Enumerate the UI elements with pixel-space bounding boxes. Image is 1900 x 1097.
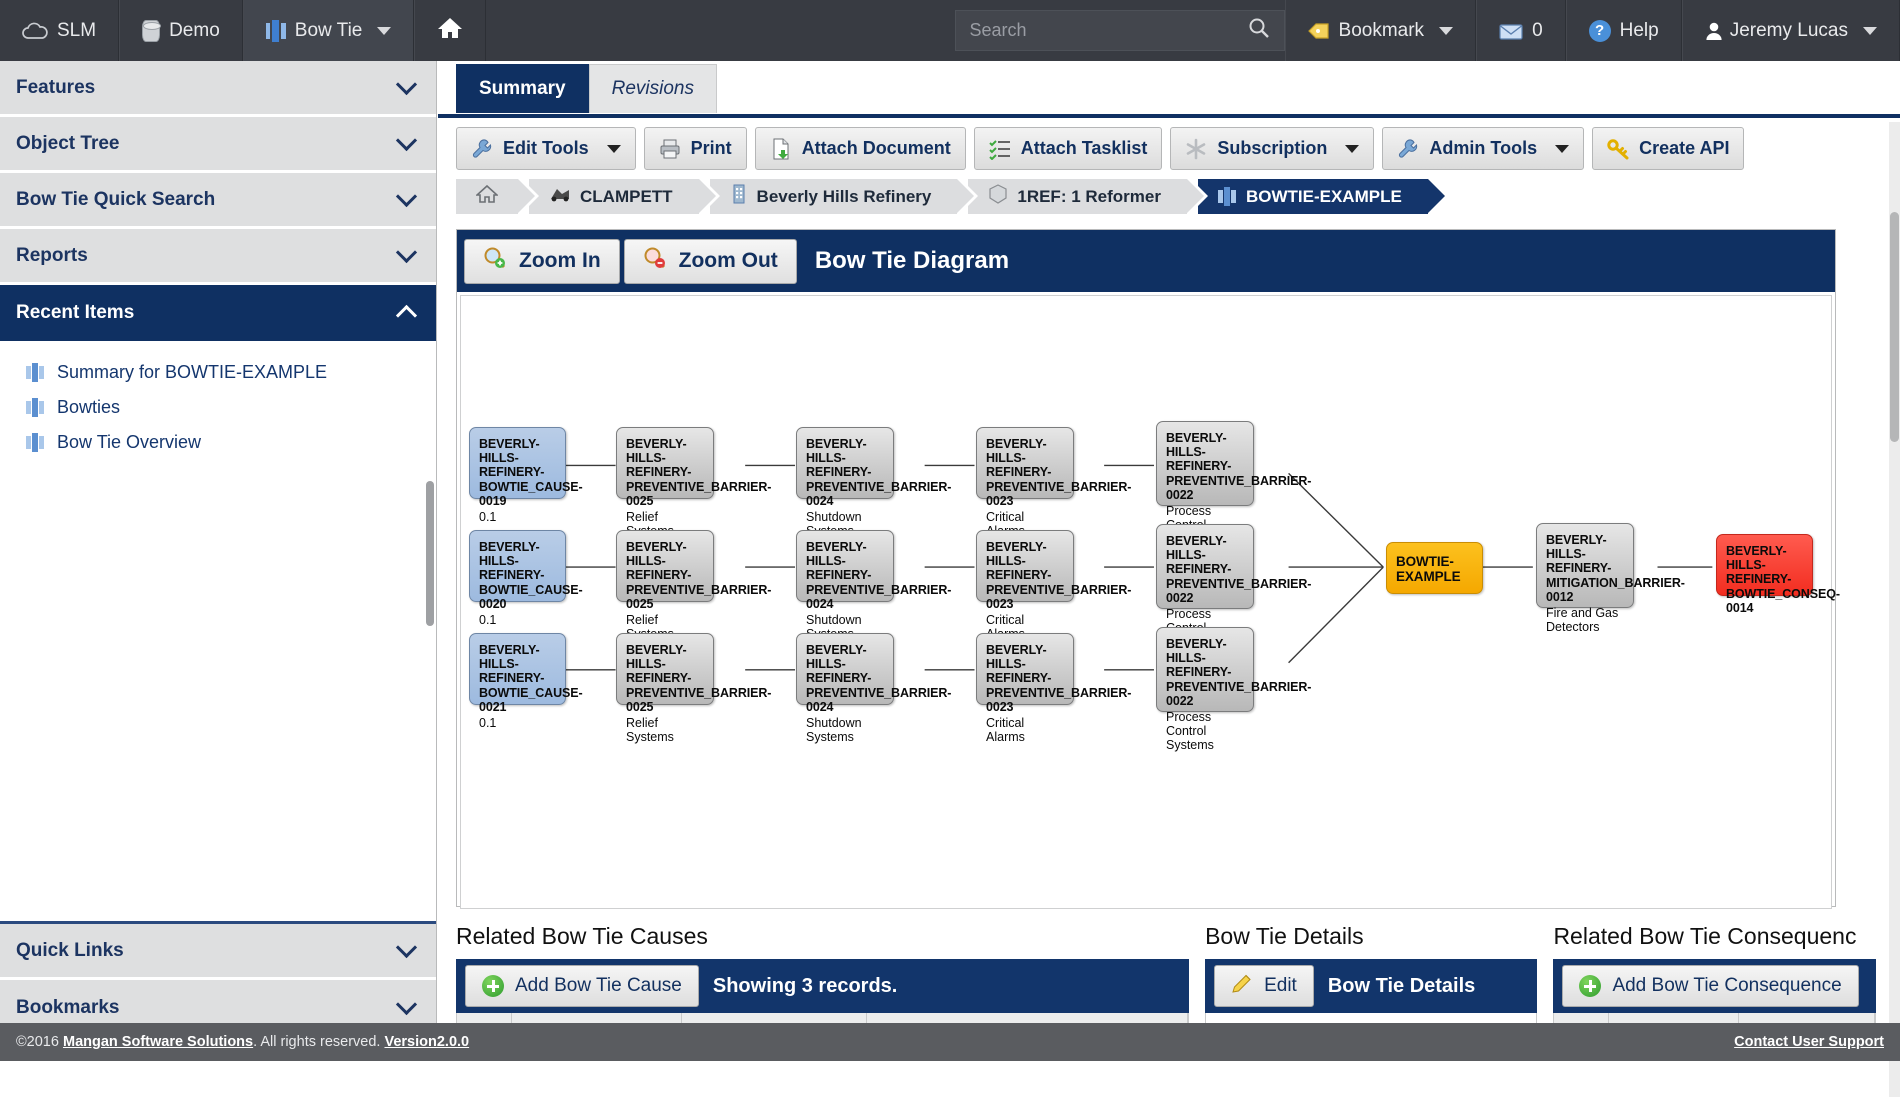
bowtie-icon: [1218, 187, 1237, 206]
node-id: BEVERLY-HILLS-REFINERY-PREVENTIVE_BARRIE…: [986, 643, 1064, 714]
chevron-down-icon[interactable]: [396, 129, 417, 150]
footer-copyright: ©2016 Mangan Software Solutions. All rig…: [16, 1034, 469, 1050]
node-subtitle: Process Control Systems: [1166, 710, 1244, 753]
node-id: BEVERLY-HILLS-REFINERY-PREVENTIVE_BARRIE…: [1166, 637, 1244, 708]
breadcrumb-label: CLAMPETT: [580, 187, 673, 207]
tab-revisions[interactable]: Revisions: [589, 64, 717, 113]
wrench-icon: [471, 138, 493, 160]
chevron-down-icon[interactable]: [396, 241, 417, 262]
bowtie-icon: [266, 20, 286, 42]
database-icon: [142, 20, 160, 42]
chevron-down-icon[interactable]: [1555, 145, 1569, 153]
diagram-node-barrier[interactable]: BEVERLY-HILLS-REFINERY-PREVENTIVE_BARRIE…: [796, 530, 894, 602]
node-id: BEVERLY-HILLS-REFINERY-BOWTIE_CAUSE-0021: [479, 643, 556, 714]
panel-title: Bow Tie Details: [1205, 923, 1537, 950]
sidebar-section-reports[interactable]: Reports: [0, 229, 436, 285]
bowtie-icon: [26, 363, 45, 382]
node-id: BEVERLY-HILLS-REFINERY-PREVENTIVE_BARRIE…: [986, 437, 1064, 508]
chevron-down-icon[interactable]: [607, 145, 621, 153]
node-subtitle: 0.1: [479, 510, 556, 524]
chevron-down-icon[interactable]: [396, 185, 417, 206]
oil-pump-icon: [549, 185, 571, 208]
sidebar-section-label: Recent Items: [16, 302, 134, 324]
mail-icon: [1499, 22, 1523, 40]
button-label: Zoom In: [519, 249, 601, 273]
node-id: BEVERLY-HILLS-REFINERY-PREVENTIVE_BARRIE…: [626, 437, 704, 508]
footer-company-link[interactable]: Mangan Software Solutions: [63, 1034, 253, 1050]
module-label: Bow Tie: [295, 20, 363, 42]
home-button[interactable]: [414, 0, 486, 61]
button-label: Admin Tools: [1429, 138, 1537, 159]
tab-bar: Summary Revisions: [456, 64, 717, 113]
panel-toolbar: Edit Bow Tie Details: [1205, 959, 1537, 1013]
diagram-node-barrier[interactable]: BEVERLY-HILLS-REFINERY-PREVENTIVE_BARRIE…: [616, 530, 714, 602]
panel-heading: Bow Tie Details: [1328, 975, 1475, 998]
node-id: BEVERLY-HILLS-REFINERY-PREVENTIVE_BARRIE…: [806, 540, 884, 611]
button-label: Attach Tasklist: [1021, 138, 1148, 159]
chevron-down-icon[interactable]: [377, 27, 391, 35]
wrench-icon: [1397, 138, 1419, 160]
search-box[interactable]: [955, 10, 1285, 51]
scrollbar-thumb[interactable]: [1890, 212, 1899, 442]
plus-circle-icon: [1579, 975, 1601, 997]
bottom-panels: Related Bow Tie Causes Add Bow Tie Cause…: [456, 923, 1876, 1036]
bowtie-icon: [26, 433, 45, 452]
recent-items-list: Summary for BOWTIE-EXAMPLE Bowties Bow T…: [0, 341, 436, 966]
button-label: Add Bow Tie Consequence: [1612, 975, 1841, 997]
search-input[interactable]: [956, 20, 1248, 41]
diagram-node-barrier[interactable]: BEVERLY-HILLS-REFINERY-PREVENTIVE_BARRIE…: [796, 427, 894, 499]
footer-version-link[interactable]: Version2.0.0: [384, 1034, 469, 1050]
search-icon[interactable]: [1248, 17, 1284, 44]
button-label: Subscription: [1217, 138, 1327, 159]
help-label: Help: [1620, 20, 1659, 42]
panel-title: Related Bow Tie Causes: [456, 923, 1189, 950]
panel-toolbar: Add Bow Tie Consequence: [1553, 959, 1876, 1013]
bowtie-icon: [26, 398, 45, 417]
related-bow-tie-consequences-panel: Related Bow Tie Consequenc Add Bow Tie C…: [1553, 923, 1876, 1036]
diagram-node-cause[interactable]: BEVERLY-HILLS-REFINERY-BOWTIE_CAUSE-0019…: [469, 427, 566, 499]
breadcrumb-label: Beverly Hills Refinery: [757, 187, 932, 207]
edit-tools-button[interactable]: Edit Tools: [456, 127, 636, 170]
breadcrumb-item-home[interactable]: [456, 179, 518, 214]
button-label: Attach Document: [802, 138, 951, 159]
bookmark-menu[interactable]: Bookmark: [1285, 0, 1477, 61]
sidebar-section-bow-tie-quick-search[interactable]: Bow Tie Quick Search: [0, 173, 436, 229]
breadcrumb: CLAMPETT Beverly Hills Refinery 1REF: 1 …: [456, 179, 1439, 214]
create-api-button[interactable]: Create API: [1592, 127, 1744, 170]
breadcrumb-label: 1REF: 1 Reformer: [1017, 187, 1161, 207]
module-selector[interactable]: Bow Tie: [243, 0, 415, 61]
bow-tie-details-panel: Bow Tie Details Edit Bow Tie Details: [1205, 923, 1537, 1036]
pencil-icon: [1231, 972, 1253, 1000]
tab-label: Summary: [479, 78, 566, 99]
sidebar-scrollbar[interactable]: [426, 481, 434, 626]
home-icon: [476, 184, 498, 209]
button-label: Print: [691, 138, 732, 159]
diagram-node-cause[interactable]: BEVERLY-HILLS-REFINERY-BOWTIE_CAUSE-0021…: [469, 633, 566, 705]
node-subtitle: Relief Systems: [626, 716, 704, 744]
node-id: BEVERLY-HILLS-REFINERY-MITIGATION_BARRIE…: [1546, 533, 1624, 604]
node-id: BOWTIE-EXAMPLE: [1396, 555, 1473, 583]
zoom-in-button[interactable]: Zoom In: [464, 239, 620, 284]
node-id: BEVERLY-HILLS-REFINERY-PREVENTIVE_BARRIE…: [1166, 534, 1244, 605]
zoom-out-icon: [643, 246, 667, 276]
diagram-node-consequence[interactable]: BEVERLY-HILLS-REFINERY-BOWTIE_CONSEQ-001…: [1716, 534, 1813, 596]
node-subtitle: Critical Alarms: [986, 716, 1064, 744]
diagram-node-barrier[interactable]: BEVERLY-HILLS-REFINERY-PREVENTIVE_BARRIE…: [976, 427, 1074, 499]
node-subtitle: 0.1: [479, 716, 556, 730]
breadcrumb-item-clampett[interactable]: CLAMPETT: [529, 179, 699, 214]
node-subtitle: 0.1: [479, 613, 556, 627]
sidebar-section-label: Reports: [16, 245, 88, 267]
diagram-node-barrier[interactable]: BEVERLY-HILLS-REFINERY-PREVENTIVE_BARRIE…: [1156, 627, 1254, 712]
user-name: Jeremy Lucas: [1730, 20, 1848, 42]
diagram-node-cause[interactable]: BEVERLY-HILLS-REFINERY-BOWTIE_CAUSE-0020…: [469, 530, 566, 602]
footer: ©2016 Mangan Software Solutions. All rig…: [0, 1023, 1900, 1061]
document-add-icon: [770, 138, 792, 160]
help-button[interactable]: ? Help: [1566, 0, 1682, 61]
edit-bow-tie-details-button[interactable]: Edit: [1214, 965, 1314, 1007]
home-icon: [437, 16, 463, 45]
list-item-label: Bowties: [57, 397, 120, 418]
bookmark-label: Bookmark: [1339, 20, 1425, 42]
diagram-node-barrier[interactable]: BEVERLY-HILLS-REFINERY-PREVENTIVE_BARRIE…: [976, 633, 1074, 705]
sidebar-bottom-sections: Quick Links Bookmarks: [0, 921, 436, 1036]
user-menu[interactable]: Jeremy Lucas: [1682, 0, 1900, 61]
tag-icon: [1308, 22, 1330, 40]
admin-tools-button[interactable]: Admin Tools: [1382, 127, 1584, 170]
node-id: BEVERLY-HILLS-REFINERY-BOWTIE_CAUSE-0019: [479, 437, 556, 508]
diagram-title: Bow Tie Diagram: [815, 247, 1009, 275]
button-label: Zoom Out: [679, 249, 778, 273]
node-id: BEVERLY-HILLS-REFINERY-BOWTIE_CONSEQ-001…: [1726, 544, 1803, 615]
factory-icon: [730, 184, 748, 209]
main-vertical-scrollbar[interactable]: [1889, 122, 1900, 1097]
record-count-status: Showing 3 records.: [713, 975, 897, 998]
help-icon: ?: [1589, 20, 1611, 42]
key-icon: [1607, 138, 1629, 160]
contact-user-support-link[interactable]: Contact User Support: [1734, 1034, 1884, 1050]
breadcrumb-label: BOWTIE-EXAMPLE: [1246, 187, 1402, 207]
footer-right: Contact User Support: [1734, 1034, 1884, 1050]
sidebar-section-label: Object Tree: [16, 133, 120, 155]
tasklist-icon: [989, 138, 1011, 160]
sidebar-section-label: Bow Tie Quick Search: [16, 189, 215, 211]
node-id: BEVERLY-HILLS-REFINERY-PREVENTIVE_BARRIE…: [626, 540, 704, 611]
list-item[interactable]: Summary for BOWTIE-EXAMPLE: [0, 355, 436, 390]
button-label: Edit: [1264, 975, 1297, 997]
unit-icon: [988, 184, 1008, 209]
breadcrumb-item-bowtie-example[interactable]: BOWTIE-EXAMPLE: [1198, 179, 1428, 214]
node-id: BEVERLY-HILLS-REFINERY-BOWTIE_CAUSE-0020: [479, 540, 556, 611]
node-id: BEVERLY-HILLS-REFINERY-PREVENTIVE_BARRIE…: [986, 540, 1064, 611]
zoom-in-icon: [483, 246, 507, 276]
plus-circle-icon: [482, 975, 504, 997]
breadcrumb-item-1ref-reformer[interactable]: 1REF: 1 Reformer: [968, 179, 1187, 214]
topbar-spacer: [486, 0, 954, 61]
cloud-icon: [22, 22, 48, 39]
zoom-out-button[interactable]: Zoom Out: [624, 239, 797, 284]
sidebar-section-quick-links[interactable]: Quick Links: [0, 924, 436, 980]
diagram-node-mitigation-barrier[interactable]: BEVERLY-HILLS-REFINERY-MITIGATION_BARRIE…: [1536, 523, 1634, 608]
panel-toolbar: Add Bow Tie Cause Showing 3 records.: [456, 959, 1189, 1013]
messages-button[interactable]: 0: [1476, 0, 1566, 61]
person-icon: [1705, 22, 1721, 40]
attach-tasklist-button[interactable]: Attach Tasklist: [974, 127, 1163, 170]
list-item[interactable]: Bow Tie Overview: [0, 425, 436, 460]
subscription-button[interactable]: Subscription: [1170, 127, 1374, 170]
main-content: Summary Revisions Edit Tools Print Attac…: [438, 61, 1900, 1036]
button-label: Add Bow Tie Cause: [515, 975, 682, 997]
node-subtitle: Fire and Gas Detectors: [1546, 606, 1624, 634]
asterisk-icon: [1185, 138, 1207, 160]
chevron-down-icon[interactable]: [396, 936, 417, 957]
list-item-label: Bow Tie Overview: [57, 432, 201, 453]
top-navigation-bar: SLM Demo Bow Tie Bookmark 0 ?: [0, 0, 1900, 61]
brand-slm[interactable]: SLM: [0, 0, 119, 61]
action-toolbar: Edit Tools Print Attach Document: [456, 127, 1744, 170]
breadcrumb-item-beverly-hills-refinery[interactable]: Beverly Hills Refinery: [710, 179, 958, 214]
list-item[interactable]: Bowties: [0, 390, 436, 425]
diagram-node-barrier[interactable]: BEVERLY-HILLS-REFINERY-PREVENTIVE_BARRIE…: [1156, 421, 1254, 506]
diagram-header: Zoom In Zoom Out Bow Tie Diagram: [457, 230, 1835, 292]
button-label: Create API: [1639, 138, 1729, 159]
node-id: BEVERLY-HILLS-REFINERY-PREVENTIVE_BARRIE…: [806, 437, 884, 508]
chevron-down-icon[interactable]: [396, 73, 417, 94]
tab-label: Revisions: [612, 78, 694, 99]
footer-rights: . All rights reserved.: [253, 1034, 384, 1050]
chevron-down-icon[interactable]: [1439, 27, 1453, 35]
sidebar-section-features[interactable]: Features: [0, 61, 436, 117]
list-item-label: Summary for BOWTIE-EXAMPLE: [57, 362, 327, 383]
diagram-node-barrier[interactable]: BEVERLY-HILLS-REFINERY-PREVENTIVE_BARRIE…: [796, 633, 894, 705]
messages-count: 0: [1532, 20, 1543, 42]
add-bow-tie-consequence-button[interactable]: Add Bow Tie Consequence: [1562, 965, 1858, 1007]
bow-tie-diagram-panel: Zoom In Zoom Out Bow Tie Diagram: [456, 229, 1836, 907]
tab-underline: [438, 114, 1900, 118]
sidebar-section-object-tree[interactable]: Object Tree: [0, 117, 436, 173]
button-label: Edit Tools: [503, 138, 589, 159]
chevron-down-icon[interactable]: [1345, 145, 1359, 153]
chevron-down-icon[interactable]: [1863, 27, 1877, 35]
diagram-node-barrier[interactable]: BEVERLY-HILLS-REFINERY-PREVENTIVE_BARRIE…: [1156, 524, 1254, 609]
sidebar-section-recent-items[interactable]: Recent Items: [0, 285, 436, 341]
node-id: BEVERLY-HILLS-REFINERY-PREVENTIVE_BARRIE…: [1166, 431, 1244, 502]
diagram-node-barrier[interactable]: BEVERLY-HILLS-REFINERY-PREVENTIVE_BARRIE…: [616, 427, 714, 499]
left-sidebar: Features Object Tree Bow Tie Quick Searc…: [0, 61, 437, 1036]
attach-document-button[interactable]: Attach Document: [755, 127, 966, 170]
related-bow-tie-causes-panel: Related Bow Tie Causes Add Bow Tie Cause…: [456, 923, 1189, 1036]
diagram-node-hazard[interactable]: BOWTIE-EXAMPLE: [1386, 542, 1483, 594]
node-id: BEVERLY-HILLS-REFINERY-PREVENTIVE_BARRIE…: [626, 643, 704, 714]
diagram-node-barrier[interactable]: BEVERLY-HILLS-REFINERY-PREVENTIVE_BARRIE…: [616, 633, 714, 705]
diagram-node-barrier[interactable]: BEVERLY-HILLS-REFINERY-PREVENTIVE_BARRIE…: [976, 530, 1074, 602]
printer-icon: [659, 138, 681, 160]
brand-label: SLM: [57, 20, 96, 42]
sidebar-section-label: Quick Links: [16, 940, 124, 962]
environment-selector[interactable]: Demo: [119, 0, 243, 61]
sidebar-section-label: Features: [16, 77, 95, 99]
sidebar-section-label: Bookmarks: [16, 997, 120, 1019]
node-id: BEVERLY-HILLS-REFINERY-PREVENTIVE_BARRIE…: [806, 643, 884, 714]
chevron-up-icon[interactable]: [396, 305, 417, 326]
print-button[interactable]: Print: [644, 127, 747, 170]
panel-title: Related Bow Tie Consequenc: [1553, 923, 1876, 950]
node-subtitle: Shutdown Systems: [806, 716, 884, 744]
chevron-down-icon[interactable]: [396, 994, 417, 1015]
environment-label: Demo: [169, 20, 220, 42]
footer-copyright-prefix: ©2016: [16, 1034, 63, 1050]
tab-summary[interactable]: Summary: [456, 64, 589, 113]
add-bow-tie-cause-button[interactable]: Add Bow Tie Cause: [465, 965, 699, 1007]
diagram-canvas[interactable]: BEVERLY-HILLS-REFINERY-BOWTIE_CAUSE-0019…: [460, 295, 1832, 909]
